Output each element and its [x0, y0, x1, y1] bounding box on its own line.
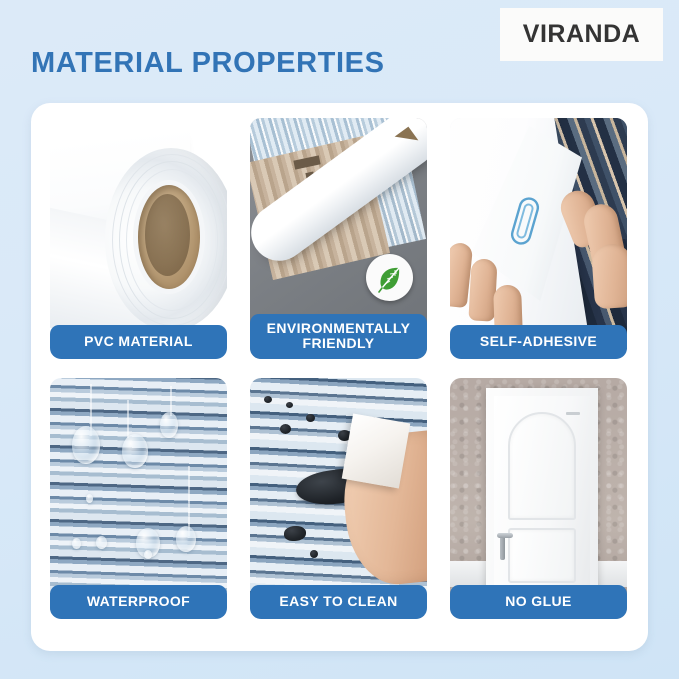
water-droplet [176, 526, 196, 552]
feature-label-line-1: ENVIRONMENTALLY [267, 320, 411, 336]
infographic-page: VIRANDA MATERIAL PROPERTIES PVC MATERIAL [0, 0, 679, 679]
water-droplet [72, 538, 81, 549]
feature-tile-easy-to-clean[interactable]: EASY TO CLEAN [250, 378, 427, 619]
pvc-roll-image [50, 118, 227, 359]
right-hand [549, 190, 627, 310]
water-droplet [144, 550, 152, 559]
white-door [494, 396, 590, 593]
feature-label-line-2: FRIENDLY [303, 335, 375, 351]
door-panel-bottom [508, 528, 576, 583]
feature-label-waterproof: WATERPROOF [50, 585, 227, 619]
feature-label-easy-to-clean: EASY TO CLEAN [250, 585, 427, 619]
no-glue-image [450, 378, 627, 619]
self-adhesive-image [450, 118, 627, 359]
feature-tile-pvc-material[interactable]: PVC MATERIAL [50, 118, 227, 359]
features-grid: PVC MATERIAL [50, 118, 630, 619]
features-card: PVC MATERIAL [31, 103, 648, 651]
feature-tile-environmentally-friendly[interactable]: ENVIRONMENTALLY FRIENDLY [250, 118, 427, 359]
left-hand [450, 233, 528, 329]
water-droplet [160, 412, 178, 438]
water-droplet [72, 426, 100, 464]
door-frame [486, 388, 598, 593]
door-handle [500, 536, 505, 560]
water-droplet [122, 434, 148, 468]
feature-label-environmentally-friendly: ENVIRONMENTALLY FRIENDLY [250, 314, 427, 359]
easy-to-clean-image [250, 378, 427, 619]
ink-stain [306, 414, 315, 422]
eco-badge [366, 254, 413, 301]
ink-stain [286, 402, 293, 408]
feature-tile-waterproof[interactable]: WATERPROOF [50, 378, 227, 619]
feature-tile-self-adhesive[interactable]: SELF-ADHESIVE [450, 118, 627, 359]
brand-logo: VIRANDA [500, 8, 663, 61]
door-hinge [566, 412, 580, 415]
waterproof-image [50, 378, 227, 619]
page-title: MATERIAL PROPERTIES [31, 47, 385, 80]
ink-stain [284, 526, 306, 541]
brand-logo-text: VIRANDA [523, 20, 640, 49]
feature-tile-no-glue[interactable]: NO GLUE [450, 378, 627, 619]
pvc-roll-core [138, 185, 200, 289]
feature-label-no-glue: NO GLUE [450, 585, 627, 619]
ink-stain [264, 396, 272, 403]
door-panel-top [508, 412, 576, 520]
door-handle-lever [497, 533, 513, 538]
water-droplet [96, 536, 107, 549]
ink-stain [310, 550, 318, 558]
cleaning-sponge [342, 413, 411, 488]
water-droplet [86, 494, 93, 503]
ink-stain [280, 424, 291, 434]
green-leaf-icon [375, 263, 405, 293]
feature-label-self-adhesive: SELF-ADHESIVE [450, 325, 627, 359]
feature-label-pvc-material: PVC MATERIAL [50, 325, 227, 359]
